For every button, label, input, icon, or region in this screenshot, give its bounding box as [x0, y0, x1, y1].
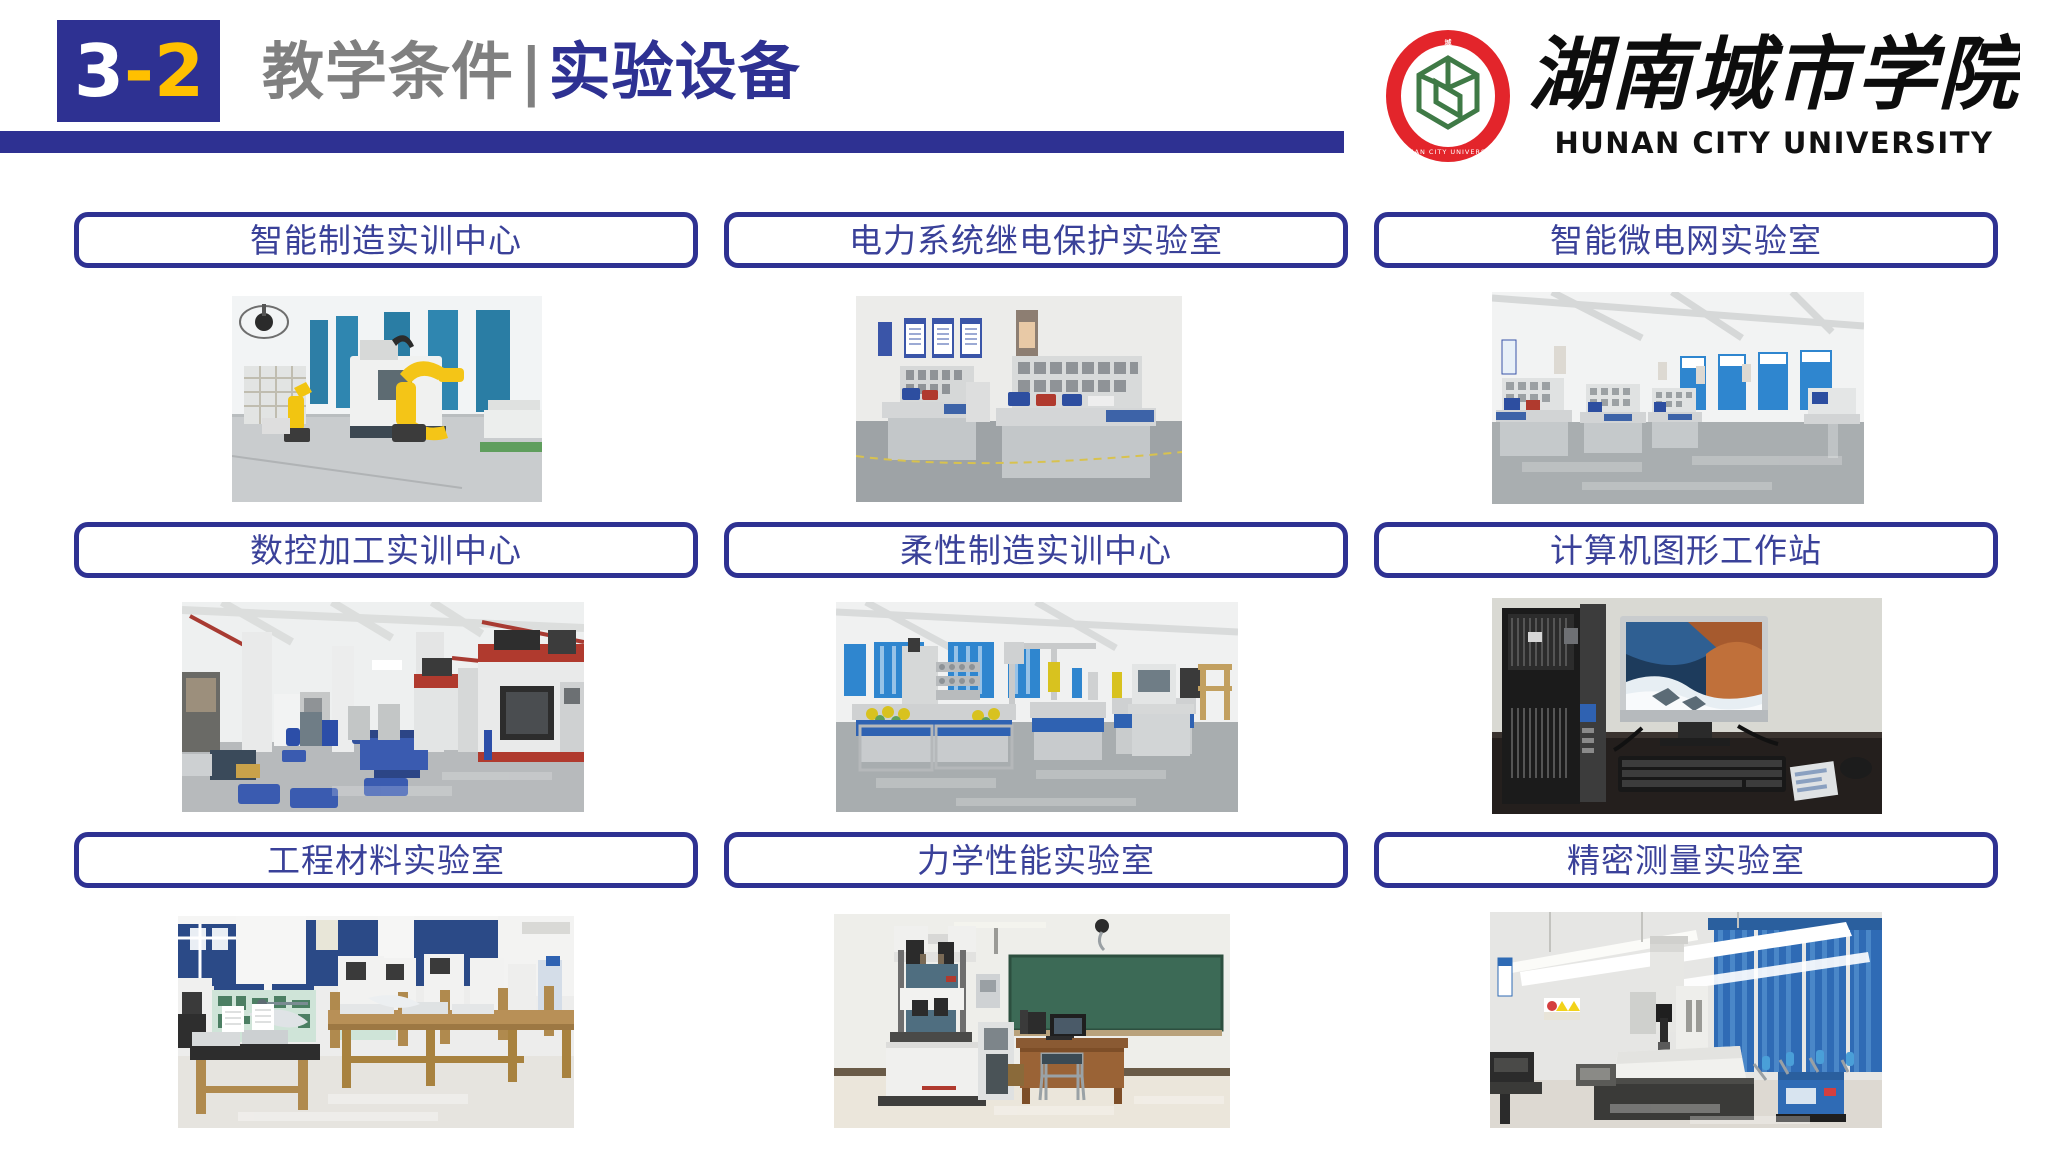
- lab-label-text: 数控加工实训中心: [250, 534, 522, 567]
- gallery-row: 数控加工实训中心: [0, 510, 2048, 820]
- lab-card[interactable]: 精密测量实验室: [1374, 820, 1998, 1130]
- lab-card[interactable]: 计算机图形工作站: [1374, 510, 1998, 820]
- lab-label-text: 柔性制造实训中心: [900, 534, 1172, 567]
- university-wordmark-chinese: 湖南城市学院: [1528, 26, 2020, 122]
- section-number-badge: 3-2: [57, 20, 220, 122]
- lab-label-text: 智能微电网实验室: [1550, 224, 1822, 257]
- lab-gallery-grid: 智能制造实训中心: [0, 200, 2048, 1152]
- lab-label-box[interactable]: 电力系统继电保护实验室: [724, 212, 1348, 268]
- page-title: 教学条件 | 实验设备: [262, 22, 801, 122]
- gallery-row: 智能制造实训中心: [0, 200, 2048, 510]
- lab-card[interactable]: 柔性制造实训中心: [724, 510, 1348, 820]
- lab-card[interactable]: 电力系统继电保护实验室: [724, 200, 1348, 510]
- lab-label-text: 力学性能实验室: [917, 844, 1155, 877]
- page-title-sub: 实验设备: [549, 41, 801, 103]
- lab-label-text: 计算机图形工作站: [1550, 534, 1822, 567]
- slide-header: 3-2 教学条件 | 实验设备 城 HUNAN CITY UNIVERSITY: [0, 0, 2048, 152]
- lab-photo-cnc-machining-training-center: [182, 602, 584, 812]
- section-number-second: 2: [154, 35, 203, 107]
- svg-text:HUNAN CITY UNIVERSITY: HUNAN CITY UNIVERSITY: [1397, 148, 1499, 156]
- lab-photo-smart-microgrid-lab: [1492, 292, 1864, 504]
- lab-label-text: 电力系统继电保护实验室: [849, 224, 1223, 257]
- lab-label-box[interactable]: 智能制造实训中心: [74, 212, 698, 268]
- header-divider-bar: [0, 131, 1344, 153]
- lab-label-text: 精密测量实验室: [1567, 844, 1805, 877]
- page-title-main: 教学条件: [262, 41, 514, 103]
- lab-label-text: 工程材料实验室: [267, 844, 505, 877]
- lab-label-box[interactable]: 计算机图形工作站: [1374, 522, 1998, 578]
- lab-card[interactable]: 智能微电网实验室: [1374, 200, 1998, 510]
- page-title-separator: |: [520, 41, 543, 103]
- university-seal-icon: 城 HUNAN CITY UNIVERSITY: [1380, 28, 1516, 164]
- lab-label-box[interactable]: 工程材料实验室: [74, 832, 698, 888]
- lab-card[interactable]: 数控加工实训中心: [74, 510, 698, 820]
- lab-card[interactable]: 智能制造实训中心: [74, 200, 698, 510]
- lab-photo-computer-graphics-workstation: [1492, 598, 1882, 814]
- svg-text:湖南城市学院: 湖南城市学院: [1528, 27, 2020, 121]
- university-wordmark-english: HUNAN CITY UNIVERSITY: [1528, 126, 2020, 160]
- section-number-first: 3: [74, 35, 123, 107]
- lab-photo-intelligent-manufacturing-training-center: [232, 296, 542, 502]
- lab-card[interactable]: 力学性能实验室: [724, 820, 1348, 1130]
- svg-text:城: 城: [1445, 38, 1452, 47]
- lab-label-box[interactable]: 数控加工实训中心: [74, 522, 698, 578]
- lab-label-box[interactable]: 精密测量实验室: [1374, 832, 1998, 888]
- gallery-row: 工程材料实验室: [0, 820, 2048, 1130]
- lab-photo-flexible-manufacturing-training-center: [836, 602, 1238, 812]
- lab-label-box[interactable]: 力学性能实验室: [724, 832, 1348, 888]
- lab-photo-precision-measurement-lab: [1490, 912, 1882, 1128]
- lab-photo-power-system-relay-protection-lab: [856, 296, 1182, 502]
- lab-label-box[interactable]: 智能微电网实验室: [1374, 212, 1998, 268]
- lab-label-box[interactable]: 柔性制造实训中心: [724, 522, 1348, 578]
- lab-label-text: 智能制造实训中心: [250, 224, 522, 257]
- university-logo: 城 HUNAN CITY UNIVERSITY 湖南城市学院 HUNAN CIT…: [1380, 14, 2020, 174]
- lab-photo-mechanical-properties-lab: [834, 914, 1230, 1128]
- wordmark-calligraphy-icon: 湖南城市学院: [1528, 26, 2020, 122]
- lab-card[interactable]: 工程材料实验室: [74, 820, 698, 1130]
- lab-photo-engineering-materials-lab: [178, 916, 574, 1128]
- section-number-dash: -: [124, 35, 153, 107]
